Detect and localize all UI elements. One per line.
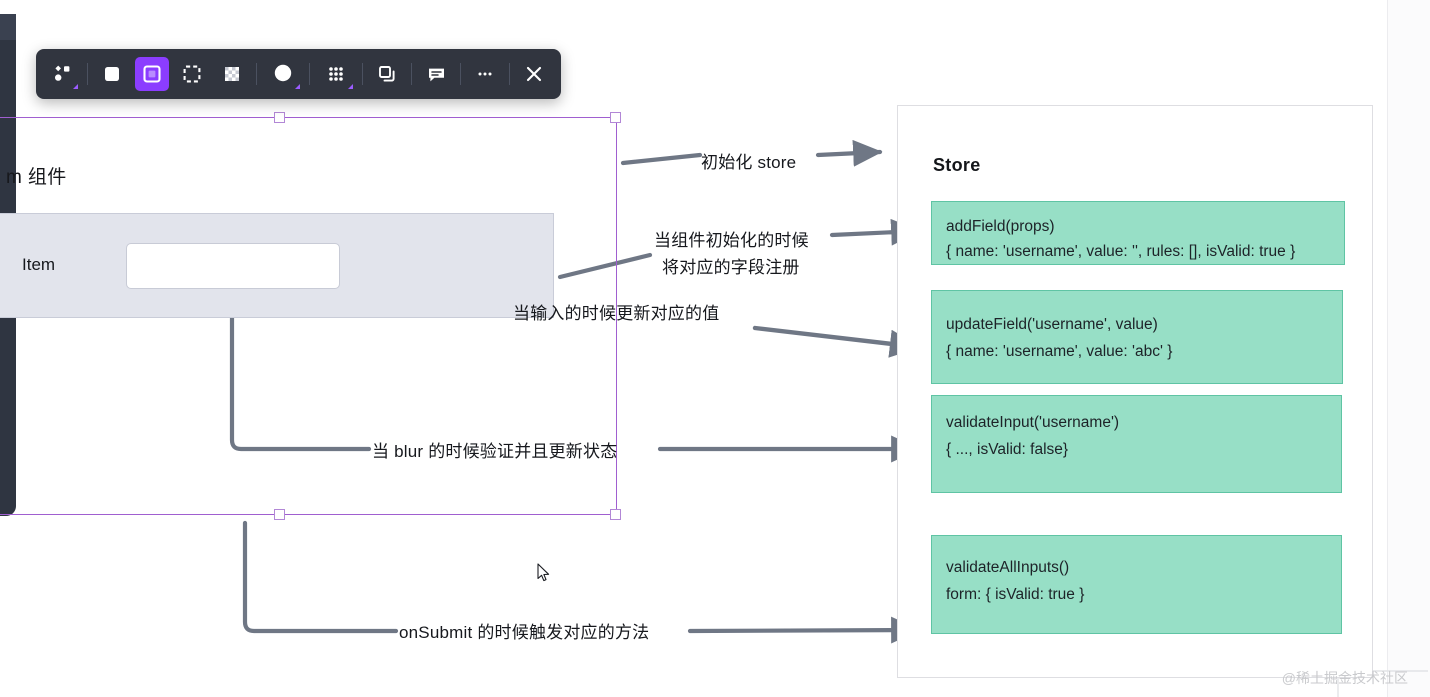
toolbar-separator-7 xyxy=(509,63,510,85)
watermark-text: @稀土掘金技术社区 xyxy=(1282,668,1408,688)
store-box-validateall[interactable]: validateAllInputs() form: { isValid: tru… xyxy=(931,535,1342,634)
shapes-tool-button[interactable] xyxy=(46,57,80,91)
ellipse-tool-corner-icon xyxy=(295,84,300,89)
store-box-addfield-line2: { name: 'username', value: '', rules: []… xyxy=(946,239,1330,264)
selection-handle-top[interactable] xyxy=(274,112,285,123)
store-panel-title: Store xyxy=(933,155,981,176)
filled-square-tool-button[interactable] xyxy=(95,57,129,91)
connector-submit-left xyxy=(245,523,396,631)
annotation-on-input: 当输入的时候更新对应的值 xyxy=(513,299,719,324)
floating-toolbar xyxy=(36,49,561,99)
checker-fill-tool-button[interactable] xyxy=(215,57,249,91)
annotation-on-blur: 当 blur 的时候验证并且更新状态 xyxy=(372,437,617,462)
shapes-tool-corner-icon xyxy=(73,84,78,89)
store-box-addfield[interactable]: addField(props) { name: 'username', valu… xyxy=(931,201,1345,265)
ellipse-tool-button[interactable] xyxy=(264,57,302,91)
toolbar-separator-6 xyxy=(460,63,461,85)
toolbar-separator-2 xyxy=(256,63,257,85)
toolbar-separator-3 xyxy=(309,63,310,85)
connector-submit-arrow xyxy=(690,630,918,631)
annotation-on-submit: onSubmit 的时候触发对应的方法 xyxy=(399,618,649,643)
store-box-validateinput[interactable]: validateInput('username') { ..., isValid… xyxy=(931,395,1342,493)
connector-init-arrow xyxy=(818,152,880,155)
outline-square-tool-button[interactable] xyxy=(135,57,169,91)
store-box-addfield-line1: addField(props) xyxy=(946,214,1330,239)
left-sidebar-rail-cap xyxy=(0,14,16,40)
connector-input-arrow xyxy=(755,328,918,347)
toolbar-separator-4 xyxy=(362,63,363,85)
store-box-updatefield-line2: { name: 'username', value: 'abc' } xyxy=(946,338,1328,365)
grid-dots-tool-corner-icon xyxy=(348,84,353,89)
canvas-stage: m 组件 Item Store addField(props) { name: … xyxy=(0,0,1430,697)
annotation-init-store: 初始化 store xyxy=(701,148,796,173)
toolbar-separator-1 xyxy=(87,63,88,85)
selection-handle-bottom[interactable] xyxy=(274,509,285,520)
store-box-updatefield[interactable]: updateField('username', value) { name: '… xyxy=(931,290,1343,384)
annotation-register-line2: 将对应的字段注册 xyxy=(662,253,800,278)
mouse-cursor xyxy=(537,563,551,583)
connector-init-left xyxy=(623,155,700,163)
more-tool-button[interactable] xyxy=(468,57,502,91)
toolbar-separator-5 xyxy=(411,63,412,85)
close-tool-button[interactable] xyxy=(517,57,551,91)
annotation-register-line1: 当组件初始化的时候 xyxy=(654,226,809,251)
comment-tool-button[interactable] xyxy=(419,57,453,91)
duplicate-tool-button[interactable] xyxy=(370,57,404,91)
selection-handle-bottom-right[interactable] xyxy=(610,509,621,520)
store-box-updatefield-line1: updateField('username', value) xyxy=(946,311,1328,338)
store-box-validateall-line2: form: { isValid: true } xyxy=(946,581,1327,608)
grid-dots-tool-button[interactable] xyxy=(317,57,355,91)
selection-handle-top-right[interactable] xyxy=(610,112,621,123)
store-box-validateinput-line2: { ..., isValid: false} xyxy=(946,436,1327,463)
store-box-validateall-line1: validateAllInputs() xyxy=(946,554,1327,581)
store-box-validateinput-line1: validateInput('username') xyxy=(946,409,1327,436)
dashed-square-tool-button[interactable] xyxy=(175,57,209,91)
